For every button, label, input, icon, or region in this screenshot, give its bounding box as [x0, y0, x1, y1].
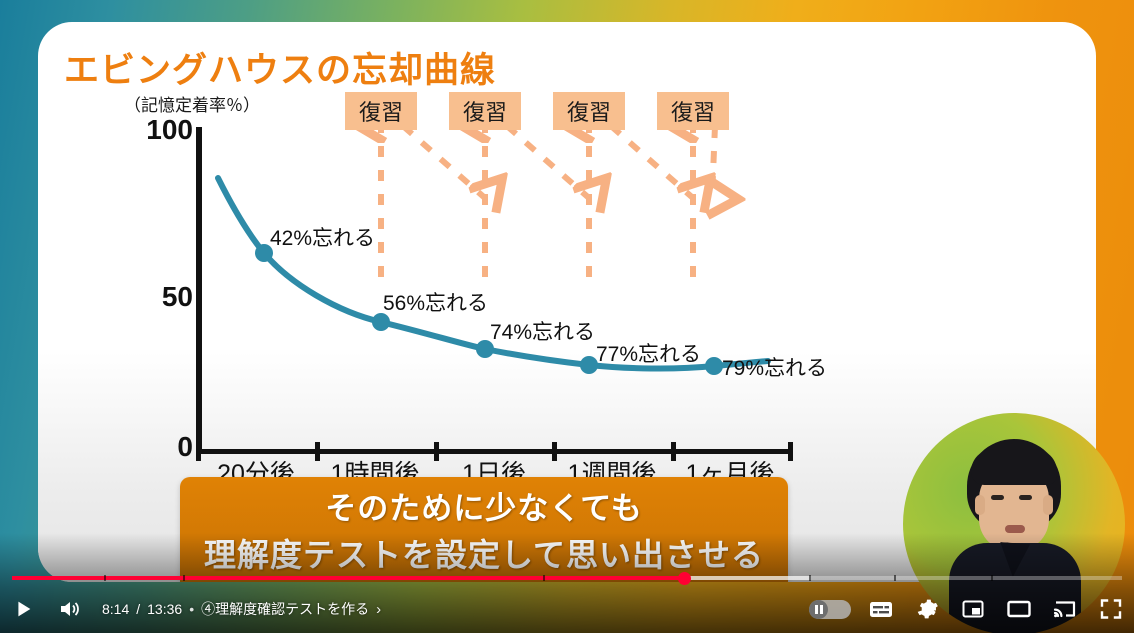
y-axis-tick-0: 0: [133, 431, 193, 463]
cast-icon: [1052, 596, 1078, 622]
avatar-ear-right: [1043, 495, 1053, 515]
x-axis-tick-5: [788, 442, 793, 461]
x-axis-tick-4: [671, 442, 676, 461]
chapter-divider-6: [991, 575, 993, 581]
chapter-divider-3: [543, 575, 545, 581]
caption-banner: そのために少なくても 理解度テストを設定して思い出させる: [180, 477, 788, 582]
chapter-divider-2: [183, 575, 185, 581]
theater-icon: [1005, 595, 1033, 623]
theater-mode-button[interactable]: [996, 585, 1042, 633]
avatar-mouth: [1005, 525, 1025, 533]
volume-icon: [57, 597, 81, 621]
avatar-eye-right: [1019, 495, 1032, 500]
time-separator: /: [136, 601, 140, 617]
y-axis-tick-50: 50: [133, 281, 193, 313]
play-icon: [12, 598, 34, 620]
point-label-0: 42%忘れる: [270, 222, 375, 252]
subtitles-icon: [867, 595, 895, 623]
review-down-arrows: [403, 126, 715, 198]
subtitles-button[interactable]: [858, 585, 904, 633]
chapter-divider-5: [894, 575, 896, 581]
progress-played: [12, 576, 684, 580]
chapter-divider-1: [104, 575, 106, 581]
progress-scrubber[interactable]: [678, 572, 691, 585]
x-axis-tick-2: [434, 442, 439, 461]
time-chapter-bullet: •: [189, 601, 194, 617]
pause-icon: [815, 605, 823, 614]
settings-button[interactable]: [904, 585, 950, 633]
miniplayer-button[interactable]: [950, 585, 996, 633]
review-up-arrows: [381, 124, 693, 277]
total-duration: 13:36: [147, 601, 182, 617]
player-controls: 8:14 / 13:36 • ④理解度確認テストを作る ›: [0, 585, 1134, 633]
point-label-4: 79%忘れる: [722, 352, 827, 382]
review-box-2: 復習: [449, 92, 521, 130]
fullscreen-button[interactable]: [1088, 585, 1134, 633]
autoplay-toggle[interactable]: [802, 585, 858, 633]
x-axis-tick-3: [552, 442, 557, 461]
avatar-fringe: [971, 449, 1057, 485]
x-axis-tick-0: [196, 442, 201, 461]
volume-button[interactable]: [46, 585, 92, 633]
current-time: 8:14: [102, 601, 129, 617]
review-box-1: 復習: [345, 92, 417, 130]
cast-button[interactable]: [1042, 585, 1088, 633]
chapter-divider-4: [809, 575, 811, 581]
x-axis-tick-1: [315, 442, 320, 461]
chevron-right-icon[interactable]: ›: [376, 601, 381, 618]
point-label-1: 56%忘れる: [383, 287, 488, 317]
point-label-2: 74%忘れる: [490, 316, 595, 346]
point-label-3: 77%忘れる: [596, 338, 701, 368]
progress-bar[interactable]: [12, 576, 1122, 581]
y-axis-tick-100: 100: [133, 114, 193, 146]
chapter-title[interactable]: ④理解度確認テストを作る: [201, 599, 369, 619]
time-and-chapter: 8:14 / 13:36 • ④理解度確認テストを作る ›: [102, 599, 381, 619]
caption-line-2: 理解度テストを設定して思い出させる: [204, 530, 764, 576]
play-button[interactable]: [0, 585, 46, 633]
y-axis-unit-label: （記憶定着率％）: [124, 91, 260, 116]
autoplay-pill: [809, 600, 851, 619]
video-player-stage: エビングハウスの忘却曲線 （記憶定着率％） 100 50 0 20分後 1時間後…: [0, 0, 1134, 633]
avatar-ear-left: [975, 495, 985, 515]
y-axis-line: [196, 127, 202, 449]
avatar-eye-left: [991, 495, 1004, 500]
caption-line-1: そのために少なくても: [325, 483, 643, 528]
gear-icon: [914, 596, 940, 622]
fullscreen-icon: [1098, 596, 1124, 622]
review-box-4: 復習: [657, 92, 729, 130]
review-box-3: 復習: [553, 92, 625, 130]
miniplayer-icon: [960, 596, 986, 622]
autoplay-knob: [809, 600, 828, 619]
